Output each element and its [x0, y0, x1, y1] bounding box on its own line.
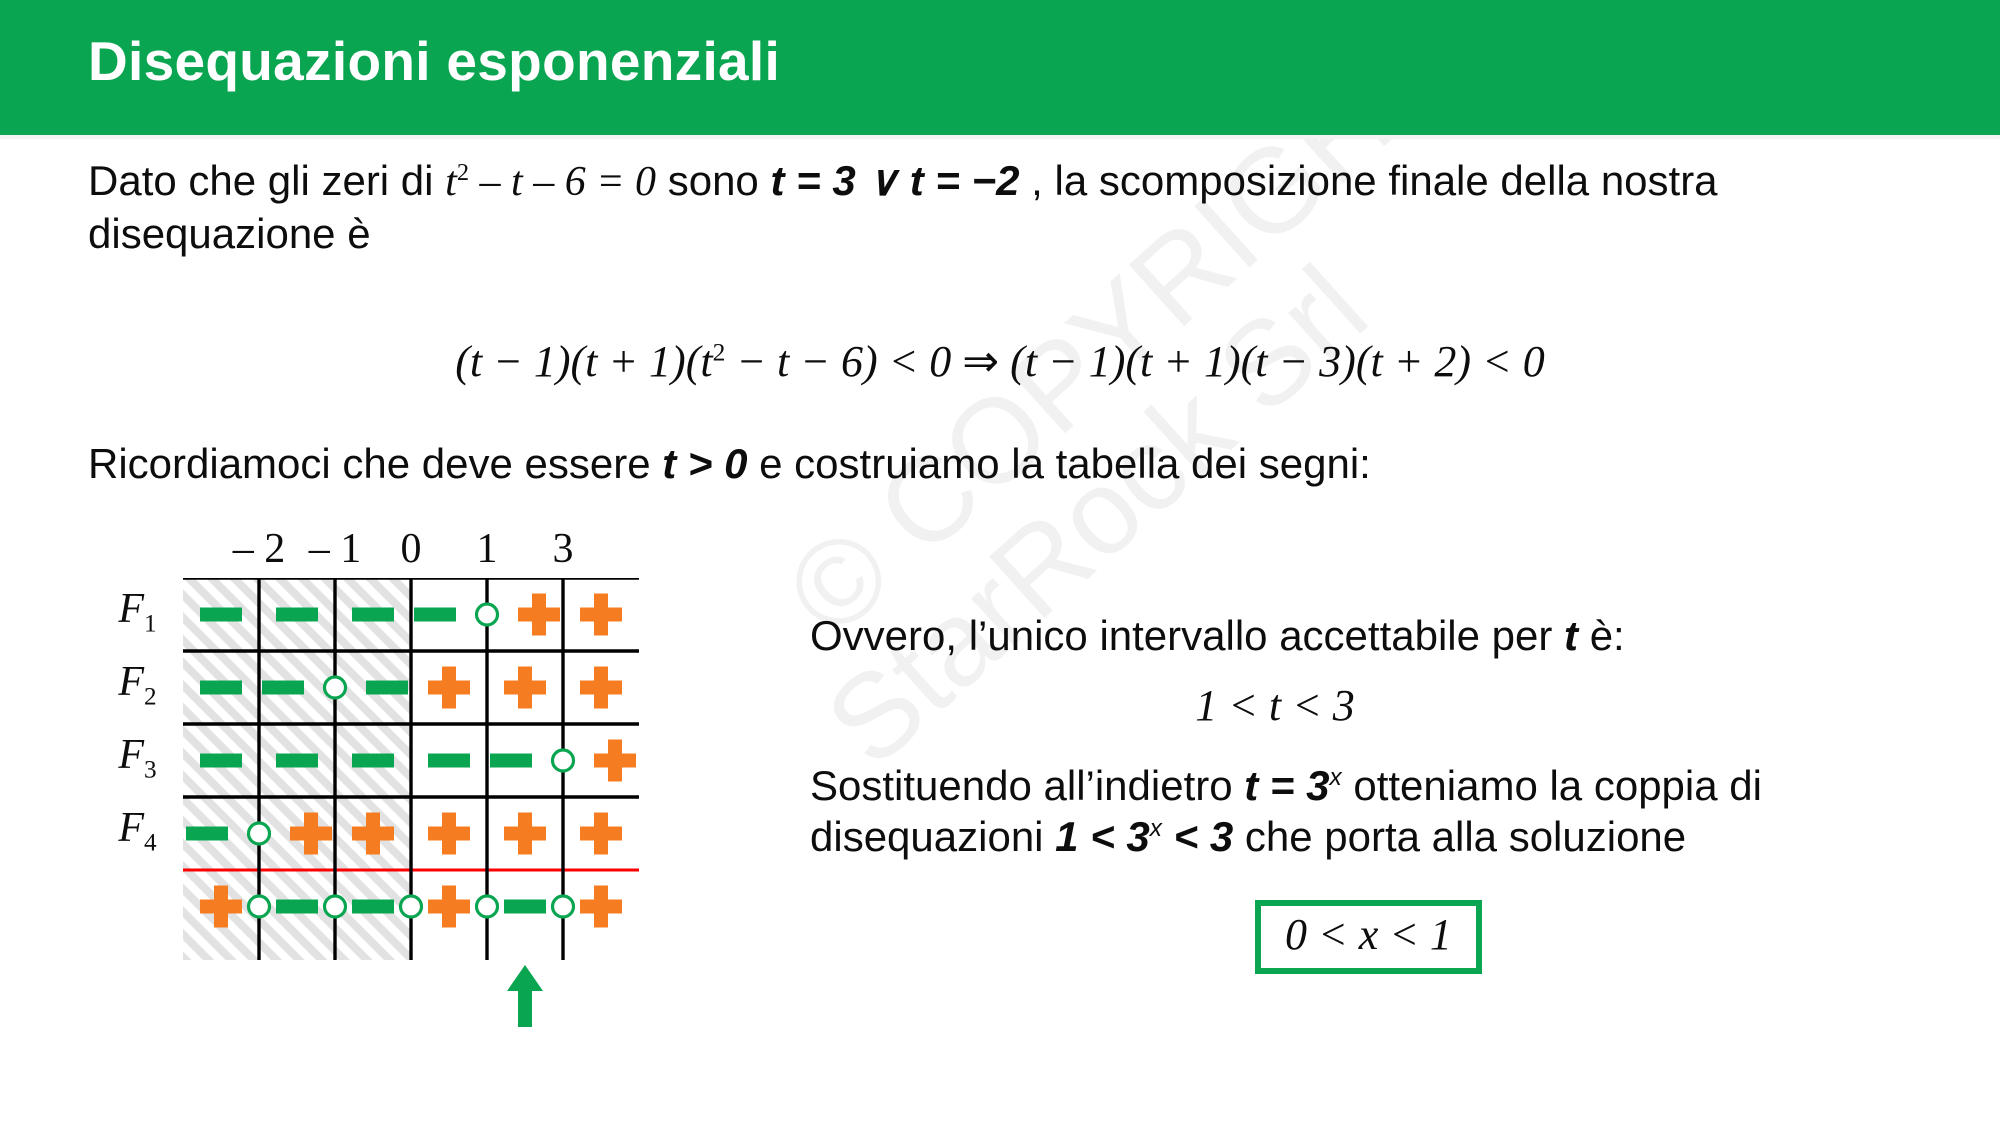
para2-seg2: e costruiamo la tabella dei segni:	[747, 440, 1370, 487]
interval-expression: 1 < t < 3	[1195, 681, 1355, 730]
sign-table-column-header-0: – 2	[221, 525, 297, 573]
solution-expression: 0 < x < 1	[1285, 910, 1452, 959]
solution-box: 0 < x < 1	[1255, 900, 1482, 974]
sign-table-row-label-F4: F4	[95, 804, 180, 857]
sign-table-row-label-F1: F1	[95, 585, 180, 638]
para2-seg1: Ricordiamoci che deve essere	[88, 440, 662, 487]
right1-seg1: Ovvero, l’unico intervallo accettabile p…	[810, 612, 1564, 659]
eq-lhs-exp: 2	[713, 337, 726, 366]
right2-math-t3x: t = 3	[1244, 762, 1329, 809]
right1-math-t: t	[1564, 612, 1578, 659]
sign-table-column-header-4: 3	[525, 525, 601, 573]
para1-math-t: t	[445, 159, 457, 205]
right2-seg1: Sostituendo all’indietro	[810, 762, 1244, 809]
eq-lhs-rest: − t − 6) < 0	[725, 337, 951, 386]
sign-table-row-labels: F1F2F3F4	[95, 578, 180, 960]
right2-math-ineq-a: 1 < 3	[1055, 813, 1150, 860]
slide-header-bar: Disequazioni esponenziali	[0, 0, 2000, 135]
sign-table-column-header-2: 0	[373, 525, 449, 573]
equation-interval-t: 1 < t < 3	[810, 680, 1740, 731]
header-underline	[0, 135, 2000, 139]
para1-seg1: Dato che gli zeri di	[88, 157, 445, 204]
sign-table-column-header-1: – 1	[297, 525, 373, 573]
paragraph-substitution: Sostituendo all’indietro t = 3x otteniam…	[810, 760, 1970, 862]
sign-table-column-header-3: 1	[449, 525, 525, 573]
equation-factorization: (t − 1)(t + 1)(t2 − t − 6) < 0 ⇒ (t − 1)…	[0, 336, 2000, 387]
sign-table-column-headers: – 2– 1013	[183, 525, 639, 575]
sign-table-row-label-F2: F2	[95, 658, 180, 711]
paragraph-interval-intro: Ovvero, l’unico intervallo accettabile p…	[810, 610, 1960, 661]
para1-math-rest: – t – 6 = 0	[469, 159, 656, 205]
para1-math-roots: t = 3 ∨ t = −2	[770, 157, 1019, 204]
up-arrow-icon	[503, 965, 547, 1027]
paragraph-intro: Dato che gli zeri di t2 – t – 6 = 0 sono…	[88, 155, 1938, 259]
right1-seg2: è:	[1578, 612, 1625, 659]
sign-table-row-label-F3: F3	[95, 731, 180, 784]
para2-math: t > 0	[662, 440, 747, 487]
right2-math-ineq-b: < 3	[1162, 813, 1233, 860]
sign-table	[183, 578, 639, 960]
eq-implies-icon: ⇒	[951, 337, 1010, 386]
right2-math-ineq-exp: x	[1150, 815, 1162, 842]
eq-lhs: (t − 1)(t + 1)(t	[455, 337, 712, 386]
eq-rhs: (t − 1)(t + 1)(t − 3)(t + 2) < 0	[1010, 337, 1545, 386]
right2-seg3: che porta alla soluzione	[1233, 813, 1686, 860]
paragraph-condition: Ricordiamoci che deve essere t > 0 e cos…	[88, 438, 1588, 489]
para1-seg2: sono	[656, 157, 770, 204]
para1-math-exp: 2	[457, 159, 469, 186]
right2-math-t3x-exp: x	[1330, 764, 1342, 791]
page-title: Disequazioni esponenziali	[88, 29, 780, 93]
